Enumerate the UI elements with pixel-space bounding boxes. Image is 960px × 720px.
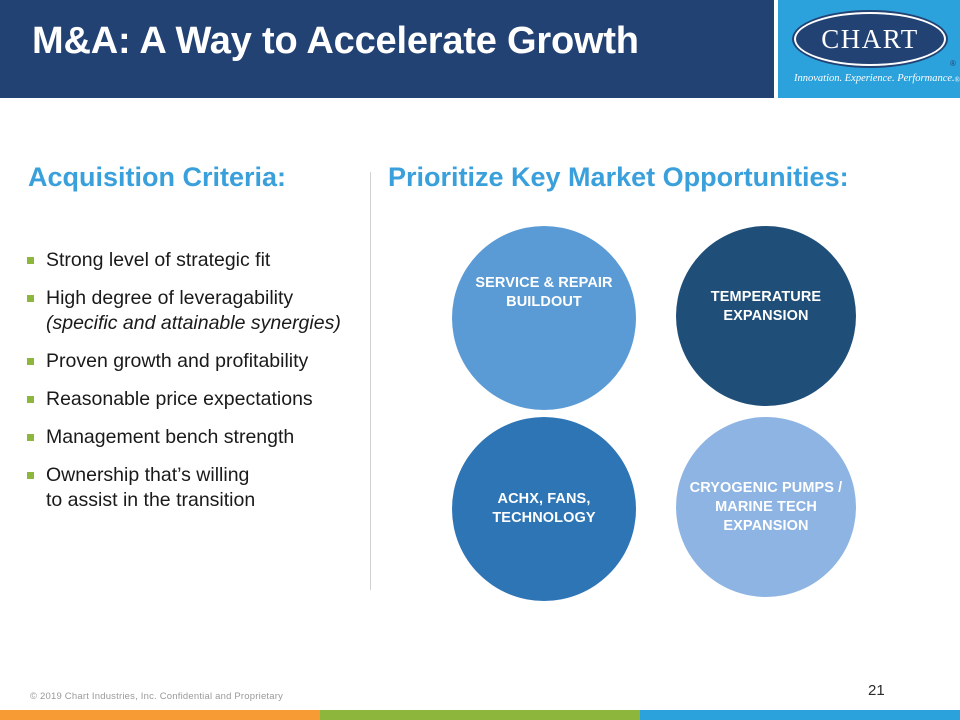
bullet-square-icon — [27, 396, 34, 403]
list-item: High degree of leveragability (specific … — [22, 286, 367, 336]
column-divider — [370, 172, 371, 590]
chart-logo-panel: CHART ® Innovation. Experience. Performa… — [774, 0, 960, 98]
market-opportunities-heading: Prioritize Key Market Opportunities: — [388, 160, 940, 194]
list-item-label: High degree of leveragability — [46, 287, 293, 309]
list-item-label: Proven growth and profitability — [46, 350, 308, 372]
footer-bar-segment-green — [320, 710, 640, 720]
left-column: Acquisition Criteria: — [28, 160, 362, 194]
slide: M&A: A Way to Accelerate Growth CHART ® … — [0, 0, 960, 720]
acquisition-criteria-list: Strong level of strategic fit High degre… — [22, 248, 367, 513]
list-item: Management bench strength — [22, 425, 367, 450]
copyright-notice: © 2019 Chart Industries, Inc. Confidenti… — [30, 691, 283, 703]
chart-logo-wordmark: CHART — [821, 26, 918, 53]
bullet-square-icon — [27, 295, 34, 302]
list-item-label: Ownership that’s willing — [46, 464, 249, 486]
list-item-label: Strong level of strategic fit — [46, 249, 270, 271]
footer-bar-segment-orange — [0, 710, 320, 720]
list-item-label: Reasonable price expectations — [46, 388, 313, 410]
footer-color-bar — [0, 710, 960, 720]
bullet-square-icon — [27, 434, 34, 441]
list-item: Reasonable price expectations — [22, 387, 367, 412]
bullet-square-icon — [27, 257, 34, 264]
opportunity-circle-achx-fans-technology: ACHX, FANS, TECHNOLOGY — [452, 417, 636, 601]
footer-bar-segment-blue — [640, 710, 960, 720]
list-item-subtext: (specific and attainable synergies) — [46, 311, 367, 336]
tagline-registered-icon: ® — [955, 76, 960, 84]
page-title: M&A: A Way to Accelerate Growth — [32, 18, 762, 64]
opportunity-circle-temperature-expansion: TEMPERATURE EXPANSION — [676, 226, 856, 406]
bullet-square-icon — [27, 358, 34, 365]
slide-header: M&A: A Way to Accelerate Growth CHART ® … — [0, 0, 960, 98]
right-column: Prioritize Key Market Opportunities: — [388, 160, 940, 194]
registered-trademark-icon: ® — [950, 60, 956, 68]
chart-logo-tagline: Innovation. Experience. Performance.® — [794, 74, 954, 85]
opportunity-circle-cryogenic-pumps-marine-tech: CRYOGENIC PUMPS / MARINE TECH EXPANSION — [676, 417, 856, 597]
chart-logo-ellipse-icon: CHART — [794, 12, 946, 66]
list-item-label: Management bench strength — [46, 426, 294, 448]
list-item: Ownership that’s willing to assist in th… — [22, 463, 367, 513]
tagline-text: Innovation. Experience. Performance. — [794, 73, 955, 84]
list-item-label-line2: to assist in the transition — [46, 488, 367, 513]
list-item: Proven growth and profitability — [22, 349, 367, 374]
opportunity-circle-label: ACHX, FANS, TECHNOLOGY — [452, 490, 636, 528]
opportunity-circle-service-repair-buildout: SERVICE & REPAIR BUILDOUT — [452, 226, 636, 410]
bullet-square-icon — [27, 472, 34, 479]
opportunity-circle-label: CRYOGENIC PUMPS / MARINE TECH EXPANSION — [676, 479, 856, 536]
opportunity-circle-label: SERVICE & REPAIR BUILDOUT — [452, 274, 636, 312]
list-item: Strong level of strategic fit — [22, 248, 367, 273]
page-number: 21 — [868, 682, 885, 700]
acquisition-criteria-heading: Acquisition Criteria: — [28, 160, 362, 194]
opportunity-circle-label: TEMPERATURE EXPANSION — [676, 288, 856, 326]
